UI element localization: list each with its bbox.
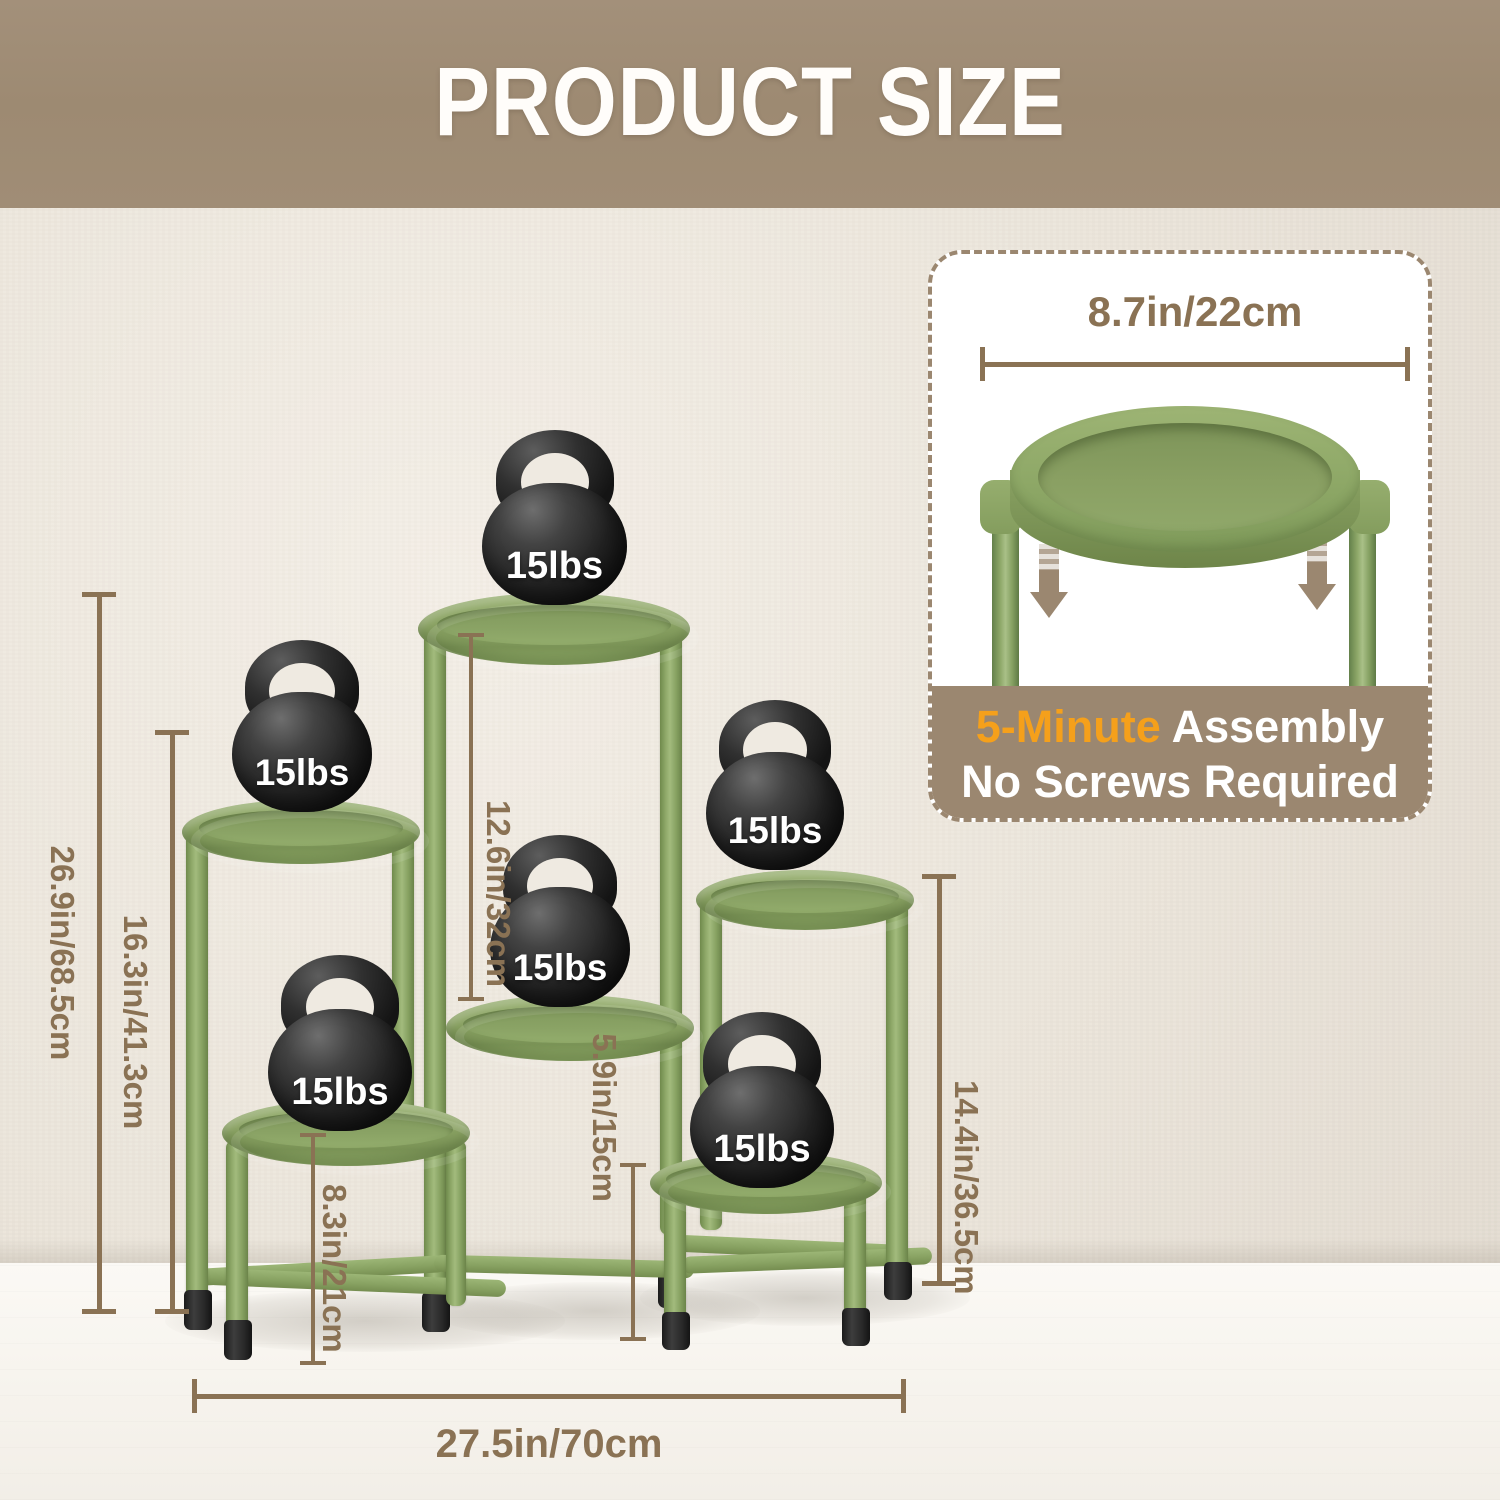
assembly-tray-top [1010, 406, 1360, 596]
stand-foot-lowerleft [224, 1320, 252, 1360]
dimension-line [469, 633, 473, 1001]
stand-leg-center-right [660, 615, 682, 1235]
dimension-cap-top [300, 1133, 326, 1137]
assembly-banner-line1: 5-Minute Assembly [976, 699, 1384, 754]
dimension-lowest-tier-height: 5.9in/15cm [620, 1163, 646, 1341]
dimension-tray-diameter: 8.7in/22cm [980, 346, 1410, 382]
dimension-cap-right [901, 1379, 906, 1413]
dimension-line [97, 592, 102, 1314]
kettlebell-weight-label: 15lbs [690, 1128, 834, 1171]
dimension-label: 8.7in/22cm [1088, 288, 1303, 336]
dimension-cap-bottom [620, 1337, 646, 1341]
dimension-label: 27.5in/70cm [436, 1422, 663, 1467]
dimension-label: 16.3in/41.3cm [116, 915, 154, 1130]
dimension-right-tier-height: 14.4in/36.5cm [922, 874, 956, 1286]
dimension-cap-top [82, 592, 116, 597]
stand-leg-lowerleft-outer [226, 1140, 248, 1340]
product-size-infographic: PRODUCT SIZE [0, 0, 1500, 1500]
dimension-cap-right [1405, 347, 1410, 381]
tray-rim [446, 995, 712, 1079]
dimension-label: 12.6in/32cm [479, 800, 517, 987]
dimension-line [631, 1163, 635, 1341]
dimension-cap-top [922, 874, 956, 879]
dimension-cap-bottom [82, 1309, 116, 1314]
assembly-banner-line2: No Screws Required [961, 754, 1399, 809]
dimension-cap-bottom [458, 997, 484, 1001]
stand-foot-lowerright-outer [842, 1308, 870, 1346]
dimension-label: 14.4in/36.5cm [947, 1080, 985, 1295]
dimension-cap-left [980, 347, 985, 381]
stand-leg-center-left [424, 615, 446, 1315]
dimension-low-tier-height: 8.3in/21cm [300, 1133, 326, 1365]
dimension-top-tier-clearance: 12.6in/32cm [458, 633, 484, 1001]
dimension-line [170, 730, 175, 1314]
kettlebell-weight-label: 15lbs [232, 752, 372, 794]
kettlebell-body: 15lbs [706, 752, 844, 870]
kettlebell-lower-right: 15lbs [690, 1012, 834, 1188]
assembly-banner: 5-Minute Assembly No Screws Required [928, 686, 1432, 822]
assembly-highlight-text: 5-Minute [976, 701, 1161, 752]
dimension-line [980, 362, 1410, 367]
kettlebell-weight-label: 15lbs [706, 810, 844, 852]
kettlebell-body: 15lbs [232, 692, 372, 812]
dimension-cap-top [620, 1163, 646, 1167]
kettlebell-weight-label: 15lbs [482, 545, 627, 588]
dimension-total-width: 27.5in/70cm [192, 1378, 906, 1414]
dimension-second-tier-height: 16.3in/41.3cm [155, 730, 189, 1314]
stand-leg-upperleft-outer [186, 820, 208, 1312]
tray-rim [696, 870, 932, 948]
dimension-label: 5.9in/15cm [585, 1033, 623, 1202]
stand-foot-lowerright-inner [662, 1312, 690, 1350]
kettlebell-upper-left: 15lbs [232, 640, 372, 812]
tray-rim [182, 800, 438, 882]
dimension-cap-left [192, 1379, 197, 1413]
kettlebell-weight-label: 15lbs [268, 1071, 412, 1114]
dimension-cap-top [458, 633, 484, 637]
assembly-inset-panel: 8.7in/22cm 5-Minute Assembly [928, 250, 1432, 822]
dimension-cap-bottom [155, 1309, 189, 1314]
kettlebell-upper-right: 15lbs [706, 700, 844, 870]
dimension-cap-top [155, 730, 189, 735]
stand-leg-upperright-outer [886, 890, 908, 1282]
tray-well [1038, 423, 1332, 531]
tray-upper-right [696, 870, 914, 930]
dimension-line [937, 874, 942, 1286]
kettlebell-body: 15lbs [690, 1066, 834, 1188]
stand-rail-mid [434, 1255, 694, 1279]
dimension-label: 26.9in/68.5cm [43, 846, 81, 1061]
assembly-line1-rest: Assembly [1161, 701, 1384, 752]
dimension-line [192, 1394, 906, 1399]
kettlebell-body: 15lbs [482, 483, 627, 605]
kettlebell-top-tier: 15lbs [482, 430, 627, 605]
dimension-cap-bottom [300, 1361, 326, 1365]
dimension-total-height: 26.9in/68.5cm [82, 592, 116, 1314]
kettlebell-lower-left: 15lbs [268, 955, 412, 1131]
dimension-label: 8.3in/21cm [315, 1184, 353, 1353]
kettlebell-body: 15lbs [268, 1009, 412, 1131]
stand-foot-upperright [884, 1262, 912, 1300]
